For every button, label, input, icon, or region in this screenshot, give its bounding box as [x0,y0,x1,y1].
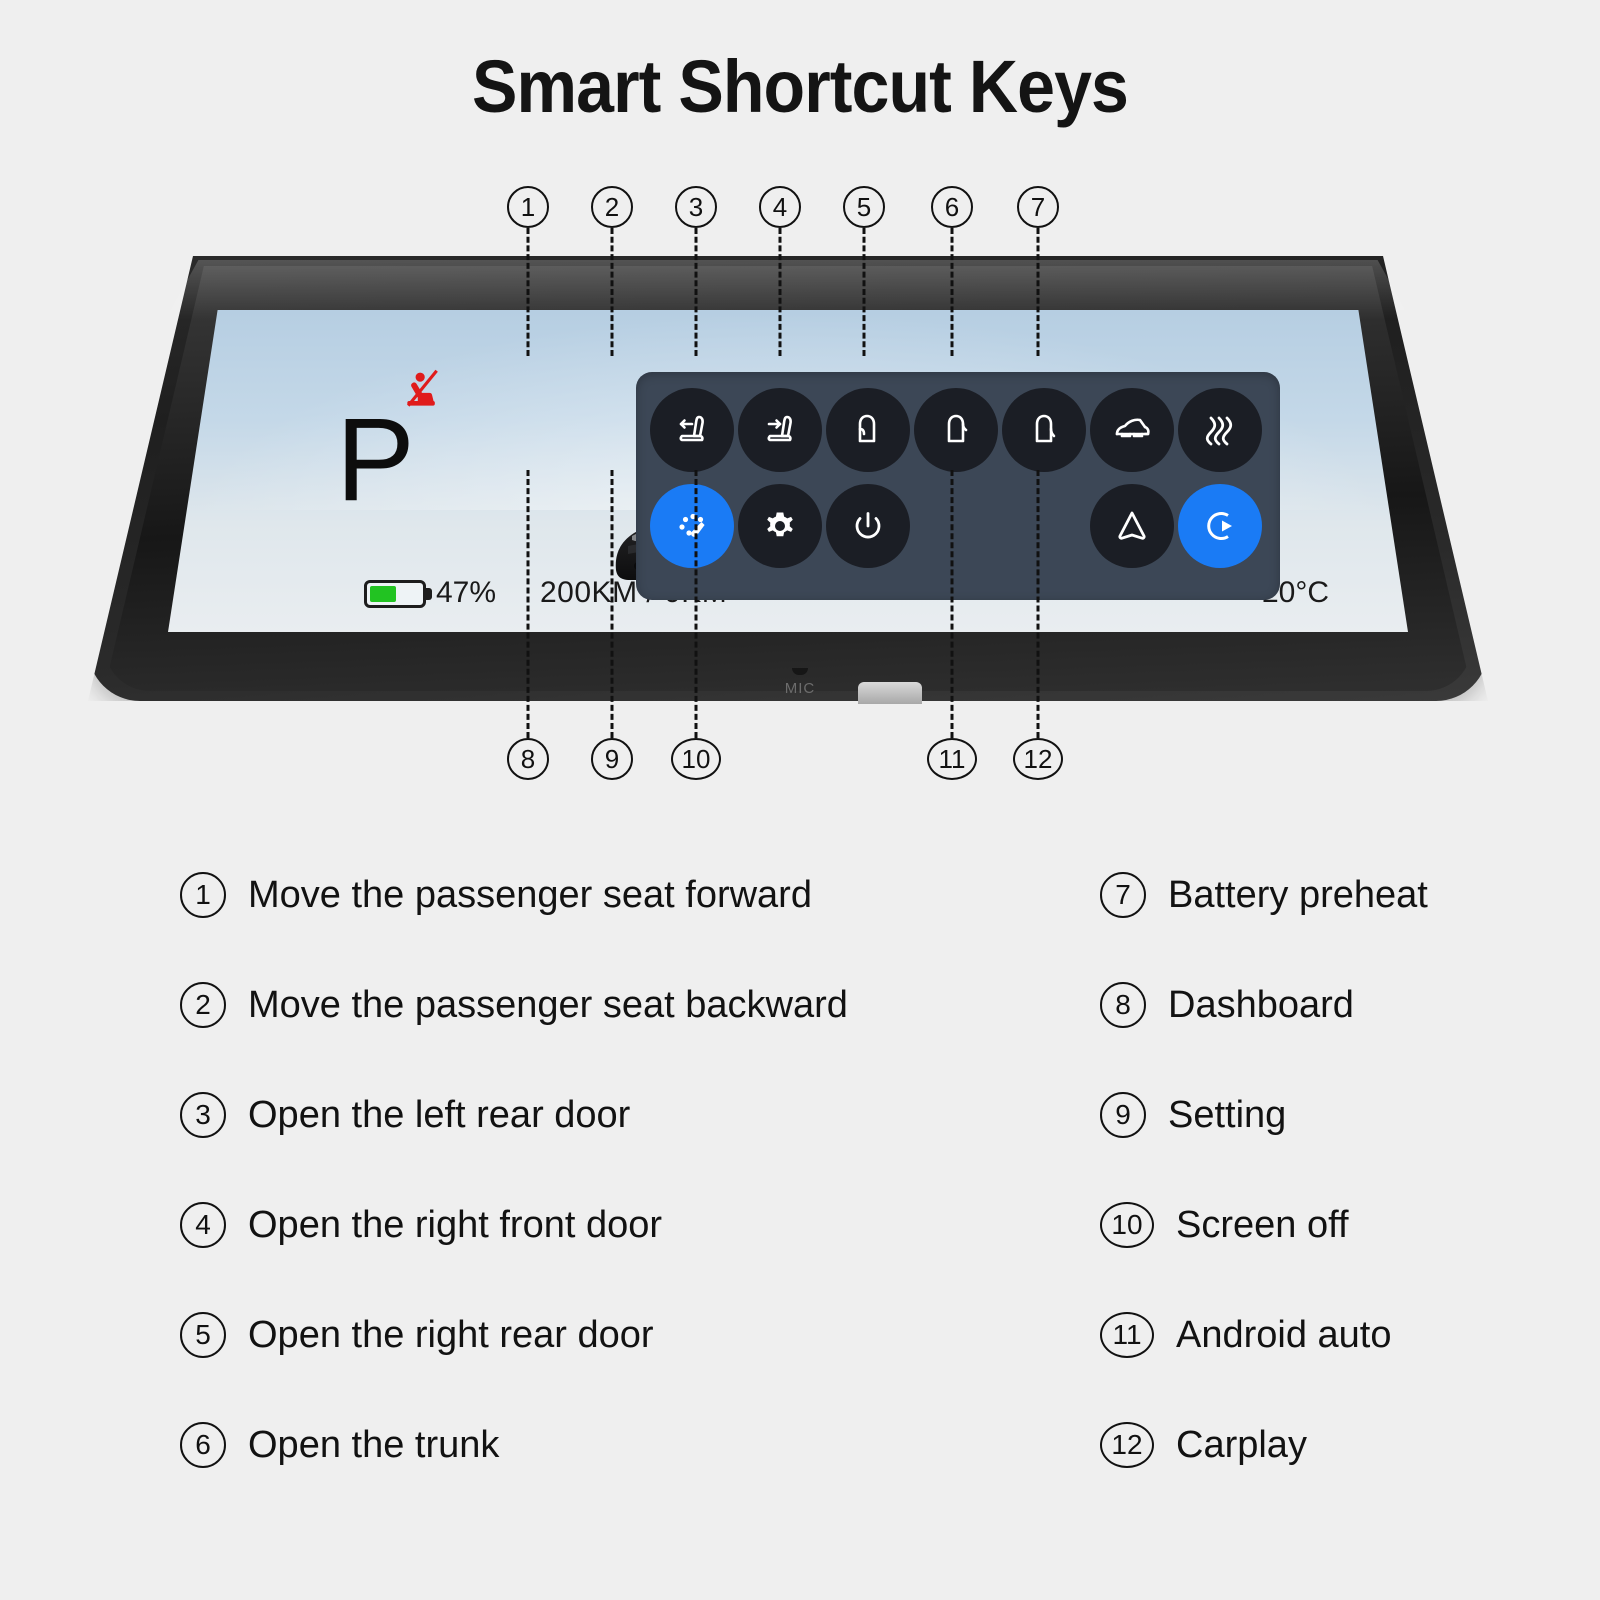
callout-number: 7 [1017,186,1059,228]
legend-number: 10 [1100,1202,1154,1248]
carplay-button[interactable] [1178,484,1262,568]
battery-preheat-button[interactable] [1178,388,1262,472]
infographic-root: Smart Shortcut Keys P [0,0,1600,1600]
shortcut-row-bottom [650,484,1266,568]
trunk-open-button[interactable] [1090,388,1174,472]
callout-leader [1037,228,1040,356]
legend-column-right: 7 Battery preheat 8 Dashboard 9 Setting … [1100,840,1580,1500]
callout-10: 10 [671,738,721,780]
legend-label: Battery preheat [1168,874,1428,917]
callout-number: 3 [675,186,717,228]
door-right-rear-icon [1021,407,1067,453]
callout-number: 12 [1013,738,1063,780]
legend-item-11: 11 Android auto [1100,1280,1580,1390]
shortcut-control-panel [636,372,1280,600]
legend-number: 12 [1100,1422,1154,1468]
legend-number: 4 [180,1202,226,1248]
legend-number: 8 [1100,982,1146,1028]
mic-label: MIC [785,680,816,697]
battery-fill [370,586,396,602]
callout-2: 2 [591,186,633,228]
callout-number: 1 [507,186,549,228]
gear-indicator: P [336,392,411,528]
android-auto-button[interactable] [1090,484,1174,568]
legend-label: Carplay [1176,1424,1307,1467]
legend-item-10: 10 Screen off [1100,1170,1580,1280]
mirror-device: P [0,248,1600,718]
callout-number: 2 [591,186,633,228]
legend-item-1: 1 Move the passenger seat forward [180,840,940,950]
callout-number: 9 [591,738,633,780]
legend-item-6: 6 Open the trunk [180,1390,940,1500]
legend-number: 6 [180,1422,226,1468]
carplay-icon [1197,503,1243,549]
legend-item-2: 2 Move the passenger seat backward [180,950,940,1060]
trunk-open-icon [1109,407,1155,453]
callout-leader [527,470,530,738]
callout-1: 1 [507,186,549,228]
settings-button[interactable] [738,484,822,568]
battery-icon [364,580,426,608]
seat-forward-button[interactable] [650,388,734,472]
seat-backward-icon [757,407,803,453]
mirror-screen[interactable]: P [168,310,1408,632]
legend-label: Open the right front door [248,1204,662,1247]
legend-item-4: 4 Open the right front door [180,1170,940,1280]
legend-label: Open the left rear door [248,1094,630,1137]
callout-leader [527,228,530,356]
legend-label: Android auto [1176,1314,1392,1357]
legend-label: Move the passenger seat forward [248,874,812,917]
callout-number: 5 [843,186,885,228]
screen-off-button[interactable] [826,484,910,568]
legend-number: 5 [180,1312,226,1358]
battery-percent-label: 47% [436,576,496,610]
legend-number: 1 [180,872,226,918]
callout-leader [611,470,614,738]
legend-label: Setting [1168,1094,1286,1137]
legend-number: 2 [180,982,226,1028]
legend-item-12: 12 Carplay [1100,1390,1580,1500]
callout-number: 4 [759,186,801,228]
empty-slot-1 [914,484,998,568]
callout-3: 3 [675,186,717,228]
legend-item-8: 8 Dashboard [1100,950,1580,1060]
callout-12: 12 [1013,738,1063,780]
callout-6: 6 [931,186,973,228]
legend-item-3: 3 Open the left rear door [180,1060,940,1170]
door-left-rear-button[interactable] [826,388,910,472]
legend-number: 9 [1100,1092,1146,1138]
legend-item-9: 9 Setting [1100,1060,1580,1170]
callout-5: 5 [843,186,885,228]
legend-label: Open the trunk [248,1424,499,1467]
mirror-mount-tab [858,682,922,704]
legend-label: Dashboard [1168,984,1354,1027]
callout-11: 11 [927,738,977,780]
callout-leader [779,228,782,356]
callout-leader [951,228,954,356]
door-right-rear-button[interactable] [1002,388,1086,472]
power-off-icon [845,503,891,549]
callout-number: 11 [927,738,977,780]
battery-cap [426,588,432,600]
callout-leader [951,470,954,738]
seat-backward-button[interactable] [738,388,822,472]
callout-8: 8 [507,738,549,780]
door-right-front-icon [933,407,979,453]
seat-forward-icon [669,407,715,453]
callout-number: 6 [931,186,973,228]
callout-leader [695,228,698,356]
callout-leader [695,470,698,738]
callout-number: 8 [507,738,549,780]
android-auto-icon [1109,503,1155,549]
empty-slot-2 [1002,484,1086,568]
legend-label: Open the right rear door [248,1314,654,1357]
callout-4: 4 [759,186,801,228]
legend-label: Move the passenger seat backward [248,984,848,1027]
legend-number: 11 [1100,1312,1154,1358]
callout-7: 7 [1017,186,1059,228]
door-right-front-button[interactable] [914,388,998,472]
legend-item-5: 5 Open the right rear door [180,1280,940,1390]
legend-number: 7 [1100,872,1146,918]
callout-leader [611,228,614,356]
callout-9: 9 [591,738,633,780]
legend-label: Screen off [1176,1204,1349,1247]
shortcut-row-top [650,388,1266,472]
heat-waves-icon [1197,407,1243,453]
callout-number: 10 [671,738,721,780]
page-title: Smart Shortcut Keys [64,44,1536,129]
callout-leader [1037,470,1040,738]
legend-item-7: 7 Battery preheat [1100,840,1580,950]
dashboard-button[interactable] [650,484,734,568]
dashboard-gauge-icon [669,503,715,549]
gear-settings-icon [757,503,803,549]
legend-column-left: 1 Move the passenger seat forward 2 Move… [180,840,940,1500]
callout-leader [863,228,866,356]
door-left-rear-icon [845,407,891,453]
legend-number: 3 [180,1092,226,1138]
